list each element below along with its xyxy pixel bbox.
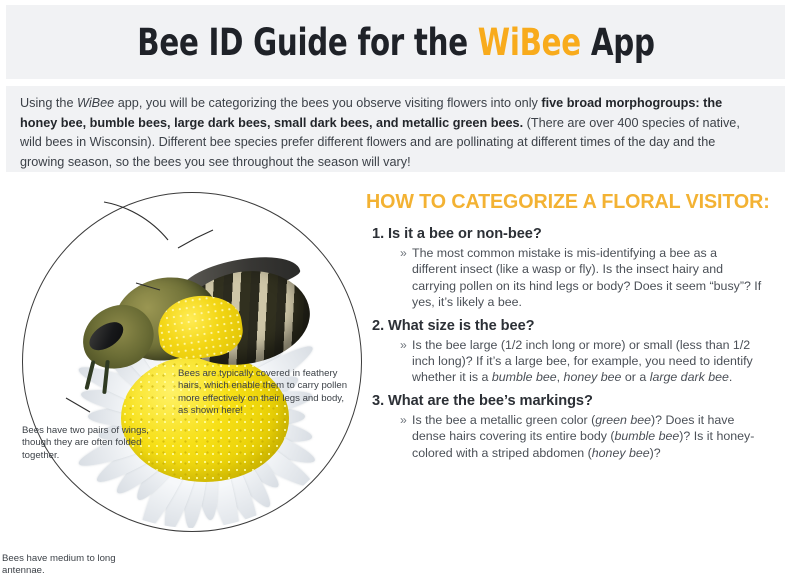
brand-name-wibee: WiBee [477, 21, 580, 64]
question-item: 1.Is it a bee or non-bee?»The most commo… [366, 226, 786, 311]
question-number: 2. [366, 318, 388, 334]
question-row: 1.Is it a bee or non-bee? [366, 226, 786, 242]
question-number: 3. [366, 393, 388, 409]
callout-wings: Bees have two pairs of wings, though the… [22, 425, 160, 462]
question-item: 3.What are the bee’s markings?»Is the be… [366, 393, 786, 461]
page-title-tail: App [580, 21, 654, 64]
answer-bullet-icon: » [400, 412, 412, 461]
answer-bullet-icon: » [400, 245, 412, 311]
answer-row: »Is the bee a metallic green color (gree… [366, 412, 786, 461]
question-number: 1. [366, 226, 388, 242]
page-title-lead: Bee ID Guide for the [137, 21, 478, 64]
question-item: 2.What size is the bee?»Is the bee large… [366, 318, 786, 386]
question-row: 3.What are the bee’s markings? [366, 393, 786, 409]
intro-app-name: WiBee [77, 95, 114, 110]
bee-on-daisy-photo [28, 198, 358, 528]
answer-row: »Is the bee large (1/2 inch long or more… [366, 337, 786, 386]
callout-antennae: Bees have medium to long antennae. [2, 553, 120, 573]
answer-text: Is the bee a metallic green color (green… [412, 412, 764, 461]
answer-row: »The most common mistake is mis-identify… [366, 245, 786, 311]
how-to-categorize-section: HOW TO CATEGORIZE A FLORAL VISITOR: 1.Is… [366, 190, 786, 468]
intro-band: Using the WiBee app, you will be categor… [6, 86, 785, 172]
callout-hairs: Bees are typically covered in feathery h… [178, 368, 350, 418]
answer-text: Is the bee large (1/2 inch long or more)… [412, 337, 764, 386]
bee-eye [84, 316, 128, 355]
question-text: What size is the bee? [388, 318, 535, 334]
intro-lead: Using the [20, 95, 77, 110]
question-text: What are the bee’s markings? [388, 393, 593, 409]
intro-paragraph: Using the WiBee app, you will be categor… [20, 93, 744, 171]
question-text: Is it a bee or non-bee? [388, 226, 542, 242]
section-header: HOW TO CATEGORIZE A FLORAL VISITOR: [366, 190, 769, 214]
question-list: 1.Is it a bee or non-bee?»The most commo… [366, 226, 786, 461]
answer-bullet-icon: » [400, 337, 412, 386]
bee-illustration-panel: Bees are typically covered in feathery h… [0, 176, 368, 573]
header-band: Bee ID Guide for the WiBee App [6, 5, 785, 79]
bee-antenna-one [84, 360, 95, 390]
answer-text: The most common mistake is mis-identifyi… [412, 245, 764, 311]
page-title: Bee ID Guide for the WiBee App [137, 21, 654, 64]
question-row: 2.What size is the bee? [366, 318, 786, 334]
intro-after-app: app, you will be categorizing the bees y… [114, 95, 541, 110]
